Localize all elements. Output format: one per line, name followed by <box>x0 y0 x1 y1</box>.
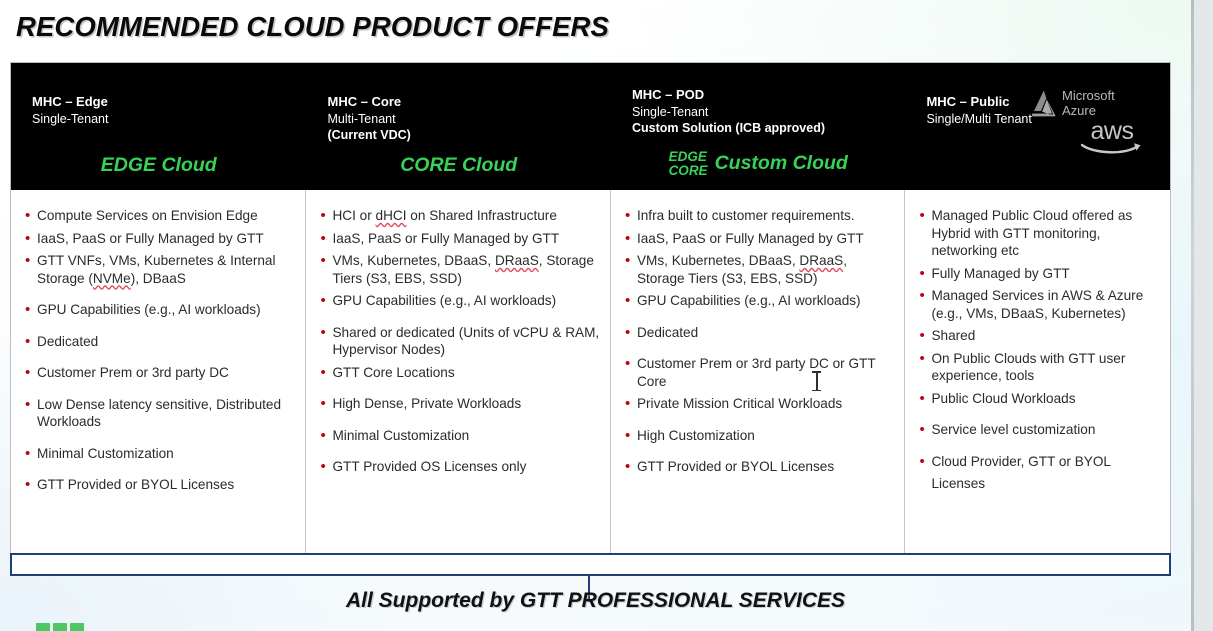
bullet-text: GPU Capabilities (e.g., AI workloads) <box>637 292 894 310</box>
bullet-text: On Public Clouds with GTT user experienc… <box>931 350 1160 385</box>
header-tenancy-core: Multi-Tenant <box>327 111 410 128</box>
bullet-dot-icon: • <box>623 207 637 225</box>
header-cell-pod: MHC – POD Single-Tenant Custom Solution … <box>611 63 905 190</box>
bullet-item: •Cloud Provider, GTT or BYOL <box>917 453 1160 471</box>
bullet-dot-icon: • <box>917 421 931 439</box>
bullet-text: Managed Services in AWS & Azure (e.g., V… <box>931 287 1160 322</box>
bullet-item: •VMs, Kubernetes, DBaaS, DRaaS, Storage … <box>623 252 894 287</box>
bullet-dot-icon: • <box>917 327 931 345</box>
header-code-pod: MHC – POD <box>632 87 825 104</box>
azure-wordmark: Microsoft Azure <box>1062 89 1115 118</box>
header-note-pod: Custom Solution (ICB approved) <box>632 120 825 137</box>
bullet-dot-icon: • <box>318 252 332 270</box>
aws-logo: aws <box>1074 119 1150 155</box>
bullet-item: •GTT Provided or BYOL Licenses <box>623 458 894 476</box>
bullet-text: IaaS, PaaS or Fully Managed by GTT <box>637 230 894 248</box>
bullet-dot-icon: • <box>623 355 637 373</box>
header-cell-public: MHC – Public Single/Multi Tenant <box>905 63 1170 190</box>
azure-chevron-icon <box>1030 89 1057 118</box>
bullet-text: IaaS, PaaS or Fully Managed by GTT <box>37 230 295 248</box>
bullet-item: •GTT Provided or BYOL Licenses <box>23 476 295 494</box>
bullet-dot-icon: • <box>623 458 637 476</box>
bullet-dot-icon: • <box>917 390 931 408</box>
bullet-text: Customer Prem or 3rd party DC or GTT Cor… <box>637 355 894 390</box>
gtt-logo-bar-2 <box>53 623 67 631</box>
bullet-text: GTT Provided OS Licenses only <box>332 458 599 476</box>
header-tenancy-pod: Single-Tenant <box>632 104 825 121</box>
bullet-text: IaaS, PaaS or Fully Managed by GTT <box>332 230 599 248</box>
header-text-group-pod: MHC – POD Single-Tenant Custom Solution … <box>632 87 825 137</box>
header-text-group-core: MHC – Core Multi-Tenant (Current VDC) <box>327 94 410 144</box>
bullet-dot-icon: • <box>623 292 637 310</box>
bullet-item: •HCI or dHCI on Shared Infrastructure <box>318 207 599 225</box>
bullet-text: GTT Provided or BYOL Licenses <box>637 458 894 476</box>
bullet-text: VMs, Kubernetes, DBaaS, DRaaS, Storage T… <box>637 252 894 287</box>
bullet-item: •Dedicated <box>23 333 295 351</box>
bullet-dot-icon: • <box>23 333 37 351</box>
bullet-item: •GTT Provided OS Licenses only <box>318 458 599 476</box>
aws-wordmark: aws <box>1074 119 1150 143</box>
bullet-item: •GPU Capabilities (e.g., AI workloads) <box>623 292 894 310</box>
bullet-item: •Private Mission Critical Workloads <box>623 395 894 413</box>
bullet-item: •Fully Managed by GTT <box>917 265 1160 283</box>
matrix-body: •Compute Services on Envision Edge•IaaS,… <box>11 190 1170 556</box>
bullet-text: VMs, Kubernetes, DBaaS, DRaaS, Storage T… <box>332 252 599 287</box>
footer-connector-box <box>10 553 1171 576</box>
header-cell-core: MHC – Core Multi-Tenant (Current VDC) CO… <box>306 63 610 190</box>
bullet-dot-icon: • <box>917 207 931 225</box>
bullet-text: GTT VNFs, VMs, Kubernetes & Internal Sto… <box>37 252 295 287</box>
gtt-logo-icon <box>36 623 84 631</box>
gtt-logo-bar-1 <box>36 623 50 631</box>
bullet-item: •Compute Services on Envision Edge <box>23 207 295 225</box>
bullet-text: Minimal Customization <box>37 445 295 463</box>
header-note-core: (Current VDC) <box>327 127 410 144</box>
matrix-header-band: MHC – Edge Single-Tenant EDGE Cloud MHC … <box>11 63 1170 190</box>
bullet-item: •VMs, Kubernetes, DBaaS, DRaaS, Storage … <box>318 252 599 287</box>
spellcheck-flagged-word: dHCI <box>376 208 407 223</box>
bullet-text: Compute Services on Envision Edge <box>37 207 295 225</box>
footer-caption: All Supported by GTT PROFESSIONAL SERVIC… <box>0 589 1191 613</box>
bullet-dot-icon: • <box>318 324 332 342</box>
bullet-item: •Minimal Customization <box>23 445 295 463</box>
bullet-item: •Dedicated <box>623 324 894 342</box>
bullet-dot-icon: • <box>623 427 637 445</box>
bullet-item: •Shared or dedicated (Units of vCPU & RA… <box>318 324 599 359</box>
gtt-logo-bar-3 <box>70 623 84 631</box>
provider-logos-group: Microsoft Azure aws <box>1030 89 1152 153</box>
bullet-dot-icon: • <box>318 427 332 445</box>
bullet-text: GTT Provided or BYOL Licenses <box>37 476 295 494</box>
header-code-edge: MHC – Edge <box>32 94 108 111</box>
bullet-text: High Customization <box>637 427 894 445</box>
bullet-dot-icon: • <box>318 207 332 225</box>
bullet-dot-icon: • <box>23 252 37 270</box>
azure-product-text: Azure <box>1062 103 1096 118</box>
bullet-dot-icon: • <box>23 445 37 463</box>
spellcheck-flagged-word: DRaaS <box>799 253 843 268</box>
page-title: RECOMMENDED CLOUD PRODUCT OFFERS <box>16 11 609 43</box>
bullet-dot-icon: • <box>318 364 332 382</box>
bullet-dot-icon: • <box>623 230 637 248</box>
slide-canvas: RECOMMENDED CLOUD PRODUCT OFFERS MHC – E… <box>0 0 1191 631</box>
header-text-group-public: MHC – Public Single/Multi Tenant <box>926 94 1031 127</box>
column-public-bullets: •Managed Public Cloud offered as Hybrid … <box>905 190 1170 556</box>
bullet-dot-icon: • <box>917 453 931 471</box>
bullet-text: Service level customization <box>931 421 1160 439</box>
bullet-dot-icon: • <box>318 292 332 310</box>
bullet-item: Licenses <box>917 475 1160 493</box>
bullet-item: •GTT VNFs, VMs, Kubernetes & Internal St… <box>23 252 295 287</box>
header-stack-line-core: CORE <box>669 164 708 178</box>
bullet-dot-icon: • <box>318 395 332 413</box>
bullet-text: HCI or dHCI on Shared Infrastructure <box>332 207 599 225</box>
header-code-public: MHC – Public <box>926 94 1031 111</box>
header-cell-edge: MHC – Edge Single-Tenant EDGE Cloud <box>11 63 306 190</box>
bullet-item: •Public Cloud Workloads <box>917 390 1160 408</box>
header-text-group-edge: MHC – Edge Single-Tenant <box>32 94 108 127</box>
spellcheck-flagged-word: NVMe <box>93 271 131 286</box>
bullet-dot-icon: • <box>623 324 637 342</box>
bullet-text: Minimal Customization <box>332 427 599 445</box>
bullet-item: •Low Dense latency sensitive, Distribute… <box>23 396 295 431</box>
column-core-bullets: •HCI or dHCI on Shared Infrastructure•Ia… <box>306 190 610 556</box>
bullet-item: •Infra built to customer requirements. <box>623 207 894 225</box>
bullet-text: GPU Capabilities (e.g., AI workloads) <box>37 301 295 319</box>
bullet-item: •Service level customization <box>917 421 1160 439</box>
bullet-text: Fully Managed by GTT <box>931 265 1160 283</box>
header-cloud-label-edge: EDGE Cloud <box>11 154 306 177</box>
header-stack-line-edge: EDGE <box>669 150 708 164</box>
bullet-item: •IaaS, PaaS or Fully Managed by GTT <box>623 230 894 248</box>
bullet-item: •Managed Services in AWS & Azure (e.g., … <box>917 287 1160 322</box>
bullet-text: GTT Core Locations <box>332 364 599 382</box>
header-code-core: MHC – Core <box>327 94 410 111</box>
bullet-text: Public Cloud Workloads <box>931 390 1160 408</box>
bullet-text: Low Dense latency sensitive, Distributed… <box>37 396 295 431</box>
bullet-item: •Managed Public Cloud offered as Hybrid … <box>917 207 1160 260</box>
bullet-item: •High Customization <box>623 427 894 445</box>
bullet-item: •Minimal Customization <box>318 427 599 445</box>
bullet-text: Dedicated <box>637 324 894 342</box>
bullet-item: •GPU Capabilities (e.g., AI workloads) <box>23 301 295 319</box>
bullet-text: GPU Capabilities (e.g., AI workloads) <box>332 292 599 310</box>
bullet-dot-icon: • <box>623 395 637 413</box>
bullet-text: Managed Public Cloud offered as Hybrid w… <box>931 207 1160 260</box>
bullet-dot-icon: • <box>917 287 931 305</box>
bullet-item: •IaaS, PaaS or Fully Managed by GTT <box>318 230 599 248</box>
bullet-text: High Dense, Private Workloads <box>332 395 599 413</box>
bullet-dot-icon: • <box>23 396 37 414</box>
azure-brand-text: Microsoft <box>1062 88 1115 103</box>
bullet-item: •GPU Capabilities (e.g., AI workloads) <box>318 292 599 310</box>
column-edge-bullets: •Compute Services on Envision Edge•IaaS,… <box>11 190 306 556</box>
bullet-dot-icon: • <box>318 458 332 476</box>
header-cloud-label-core: CORE Cloud <box>306 154 610 177</box>
bullet-item: •On Public Clouds with GTT user experien… <box>917 350 1160 385</box>
bullet-text: Shared or dedicated (Units of vCPU & RAM… <box>332 324 599 359</box>
header-tenancy-public: Single/Multi Tenant <box>926 111 1031 128</box>
bullet-item: •Customer Prem or 3rd party DC <box>23 364 295 382</box>
bullet-text: Cloud Provider, GTT or BYOL <box>931 453 1160 471</box>
bullet-dot-icon: • <box>23 207 37 225</box>
outer-application-pane <box>1194 0 1213 631</box>
bullet-text: Private Mission Critical Workloads <box>637 395 894 413</box>
microsoft-azure-logo: Microsoft Azure <box>1030 89 1115 118</box>
header-tenancy-edge: Single-Tenant <box>32 111 108 128</box>
bullet-dot-icon: • <box>917 350 931 368</box>
bullet-text: Customer Prem or 3rd party DC <box>37 364 295 382</box>
bullet-dot-icon: • <box>23 230 37 248</box>
header-cloud-label-pod: EDGE CORE Custom Cloud <box>611 150 905 177</box>
bullet-dot-icon: • <box>623 252 637 270</box>
cloud-offers-matrix: MHC – Edge Single-Tenant EDGE Cloud MHC … <box>10 62 1171 557</box>
bullet-item: •IaaS, PaaS or Fully Managed by GTT <box>23 230 295 248</box>
bullet-dot-icon: • <box>318 230 332 248</box>
spellcheck-flagged-word: DRaaS <box>495 253 539 268</box>
bullet-text: Infra built to customer requirements. <box>637 207 894 225</box>
bullet-text: Dedicated <box>37 333 295 351</box>
bullet-text: Shared <box>931 327 1160 345</box>
header-cloud-label-pod-suffix: Custom Cloud <box>715 152 848 175</box>
bullet-dot-icon: • <box>23 476 37 494</box>
bullet-text: Licenses <box>931 475 1160 493</box>
header-stacked-edge-core: EDGE CORE <box>669 150 708 177</box>
column-pod-bullets: •Infra built to customer requirements.•I… <box>611 190 905 556</box>
bullet-item: •High Dense, Private Workloads <box>318 395 599 413</box>
bullet-dot-icon: • <box>917 265 931 283</box>
bullet-item: •GTT Core Locations <box>318 364 599 382</box>
bullet-dot-icon: • <box>23 301 37 319</box>
bullet-item: •Shared <box>917 327 1160 345</box>
bullet-item: •Customer Prem or 3rd party DC or GTT Co… <box>623 355 894 390</box>
bullet-dot-icon: • <box>23 364 37 382</box>
